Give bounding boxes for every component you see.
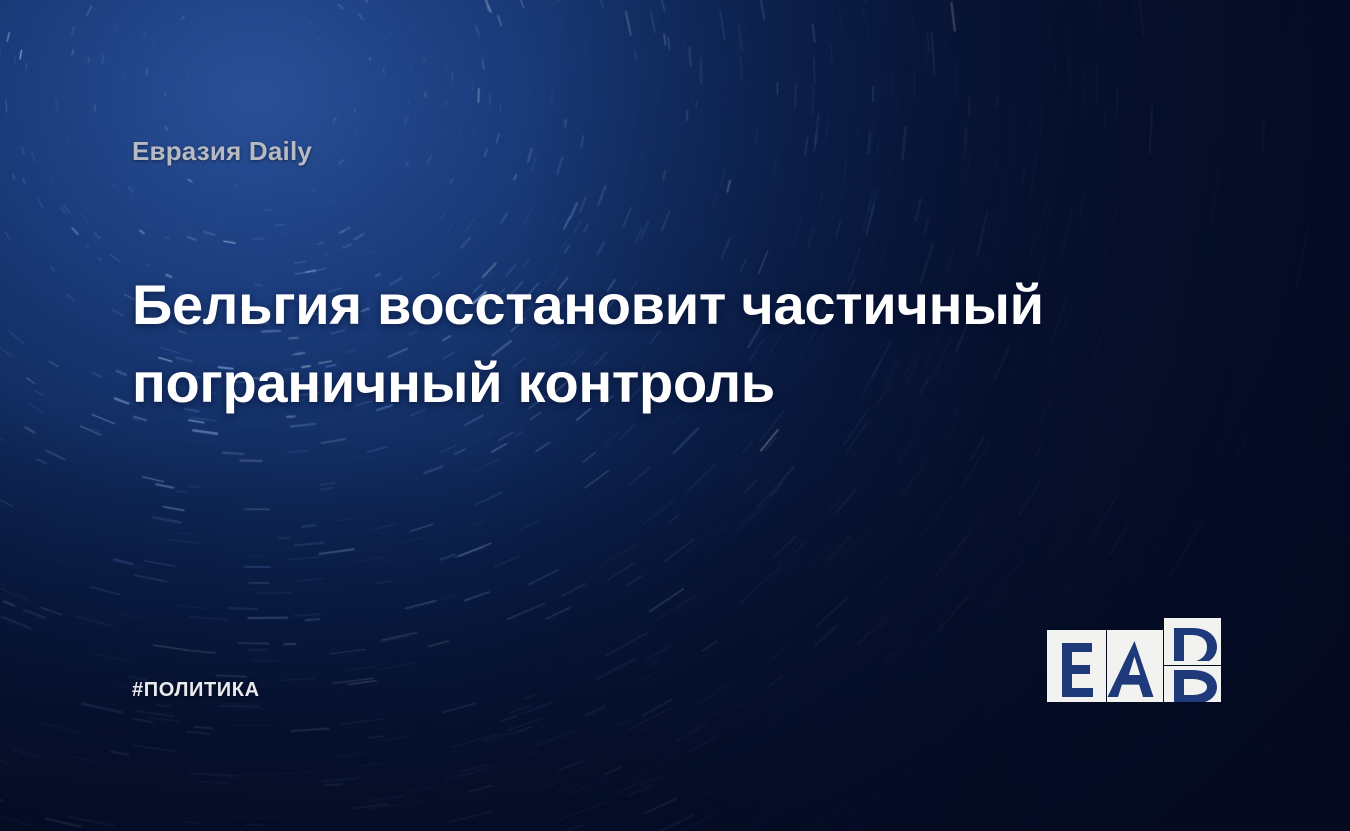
category-tag: #ПОЛИТИКА — [132, 679, 260, 702]
logo-tile-d — [1164, 618, 1221, 702]
article-headline: Бельгия восстановит частичный пограничны… — [132, 266, 1062, 422]
ead-logo — [1046, 618, 1222, 702]
site-name: Евразия Daily — [132, 136, 312, 167]
logo-tile-e — [1047, 630, 1106, 702]
logo-tile-a — [1107, 630, 1163, 702]
ead-logo-graphic — [1046, 618, 1222, 702]
news-card: Евразия Daily Бельгия восстановит частич… — [0, 0, 1350, 831]
